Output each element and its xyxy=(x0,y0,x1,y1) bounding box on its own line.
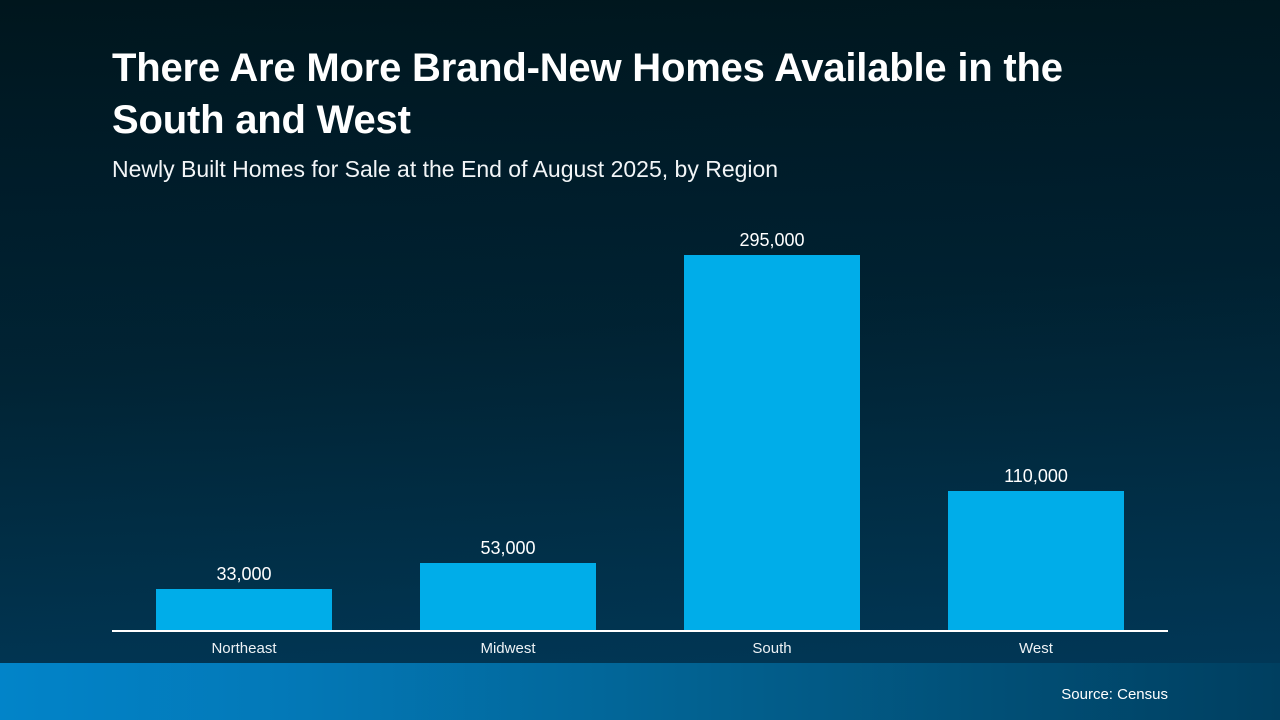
x-axis-line xyxy=(112,630,1168,632)
bar-value-south: 295,000 xyxy=(640,229,904,251)
bar-northeast[interactable] xyxy=(156,589,332,631)
x-axis-category-labels: Northeast Midwest South West xyxy=(112,639,1168,661)
chart-title: There Are More Brand-New Homes Available… xyxy=(112,42,1172,146)
bar-group-northeast: 33,000 xyxy=(112,210,376,631)
bar-chart-plot-area: 33,000 53,000 295,000 110,000 xyxy=(112,210,1168,631)
bar-group-midwest: 53,000 xyxy=(376,210,640,631)
bar-midwest[interactable] xyxy=(420,563,596,631)
bar-value-northeast: 33,000 xyxy=(112,563,376,585)
footer-bar: Source: Census xyxy=(0,663,1280,720)
bar-group-south: 295,000 xyxy=(640,210,904,631)
x-axis-label-south: South xyxy=(640,639,904,659)
bar-value-midwest: 53,000 xyxy=(376,537,640,559)
bar-group-west: 110,000 xyxy=(904,210,1168,631)
bar-west[interactable] xyxy=(948,491,1124,631)
chart-header: There Are More Brand-New Homes Available… xyxy=(112,42,1172,184)
bar-value-west: 110,000 xyxy=(904,465,1168,487)
chart-subtitle: Newly Built Homes for Sale at the End of… xyxy=(112,146,1172,184)
x-axis-label-northeast: Northeast xyxy=(112,639,376,659)
bar-south[interactable] xyxy=(684,255,860,631)
chart-slide: There Are More Brand-New Homes Available… xyxy=(0,0,1280,720)
source-attribution: Source: Census xyxy=(1061,685,1168,705)
x-axis-label-west: West xyxy=(904,639,1168,659)
x-axis-label-midwest: Midwest xyxy=(376,639,640,659)
